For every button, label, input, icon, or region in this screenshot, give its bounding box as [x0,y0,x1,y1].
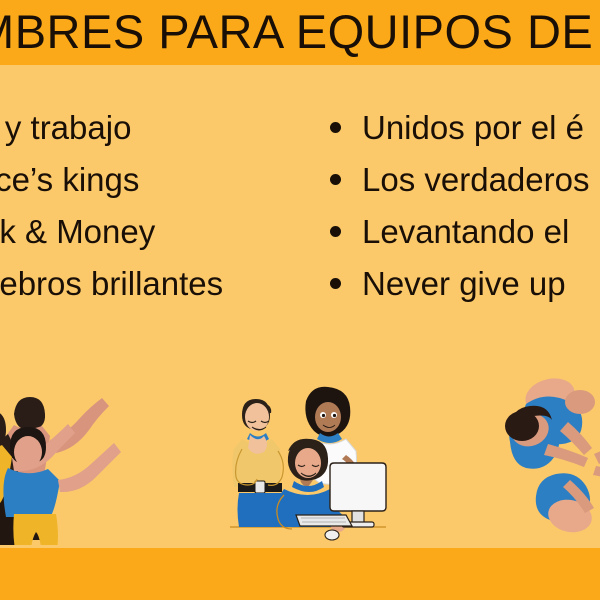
footer-band [0,548,600,600]
bullet-label: Never give up [362,264,566,304]
bullet-dot-icon [330,122,341,133]
bullet-dot-icon [330,278,341,289]
bullet-label: erebros brillantes [0,264,223,304]
header-band: OMBRES PARA EQUIPOS DE TRA [0,0,600,65]
list-item: Unidos por el é [330,108,600,160]
slide-canvas: OMBRES PARA EQUIPOS DE TRA ie y trabajo … [0,0,600,600]
bullet-dot-icon [330,174,341,185]
bullet-dot-icon [330,226,341,237]
bullet-label: Los verdaderos [362,160,589,200]
celebrating-team-illustration [0,370,148,550]
bullet-column-right: Unidos por el é Los verdaderos Levantand… [330,108,600,316]
bullet-label: ffice’s kings [0,160,139,200]
page-title: OMBRES PARA EQUIPOS DE TRA [0,3,600,61]
list-item: ork & Money [0,212,318,264]
list-item: Never give up [330,264,600,316]
bullet-column-left: ie y trabajo ffice’s kings ork & Money e… [0,108,318,316]
office-team-computer-illustration [228,377,388,550]
list-item: erebros brillantes [0,264,318,316]
bullet-label: ie y trabajo [0,108,131,148]
bullet-label: Unidos por el é [362,108,584,148]
bullet-label: ork & Money [0,212,155,252]
list-item: ffice’s kings [0,160,318,212]
list-item: ie y trabajo [0,108,318,160]
bullet-columns: ie y trabajo ffice’s kings ork & Money e… [0,108,600,338]
list-item: Los verdaderos [330,160,600,212]
bullet-label: Levantando el [362,212,569,252]
list-item: Levantando el [330,212,600,264]
team-huddle-hands-illustration [498,370,600,550]
